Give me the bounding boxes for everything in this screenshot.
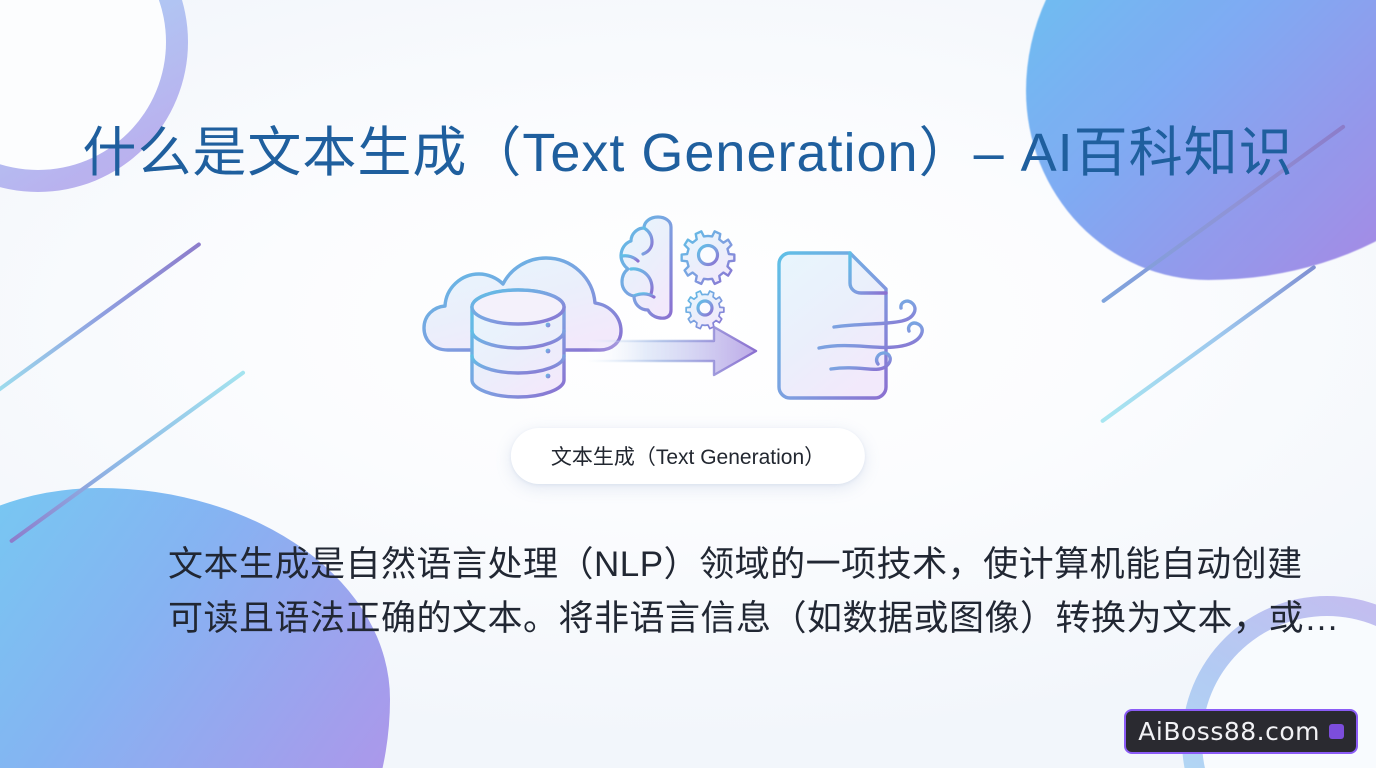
brain-gears-icon <box>621 217 734 329</box>
illustration-caption-pill: 文本生成（Text Generation） <box>511 428 865 484</box>
body-paragraph: 文本生成是自然语言处理（NLP）领域的一项技术，使计算机能自动创建 可读且语法正… <box>168 538 1216 646</box>
slide-canvas: 什么是文本生成（Text Generation）– AI百科知识 <box>0 0 1376 768</box>
watermark-square-icon <box>1329 724 1344 739</box>
body-line-1: 文本生成是自然语言处理（NLP）领域的一项技术，使计算机能自动创建 <box>168 538 1216 592</box>
watermark-badge: AiBoss88.com <box>1124 709 1358 754</box>
illustration-caption-text: 文本生成（Text Generation） <box>551 446 825 469</box>
document-wind-icon <box>779 253 922 398</box>
diagonal-line-right-lower <box>1100 265 1317 424</box>
illustration-diagram <box>418 215 958 430</box>
body-line-2: 可读且语法正确的文本。将非语言信息（如数据或图像）转换为文本，或… <box>168 592 1216 646</box>
cloud-database-icon <box>424 258 621 397</box>
diagonal-line-left-upper <box>0 242 202 404</box>
watermark-text: AiBoss88.com <box>1138 717 1320 746</box>
page-title: 什么是文本生成（Text Generation）– AI百科知识 <box>0 108 1376 187</box>
diagonal-line-left-lower <box>9 370 246 544</box>
